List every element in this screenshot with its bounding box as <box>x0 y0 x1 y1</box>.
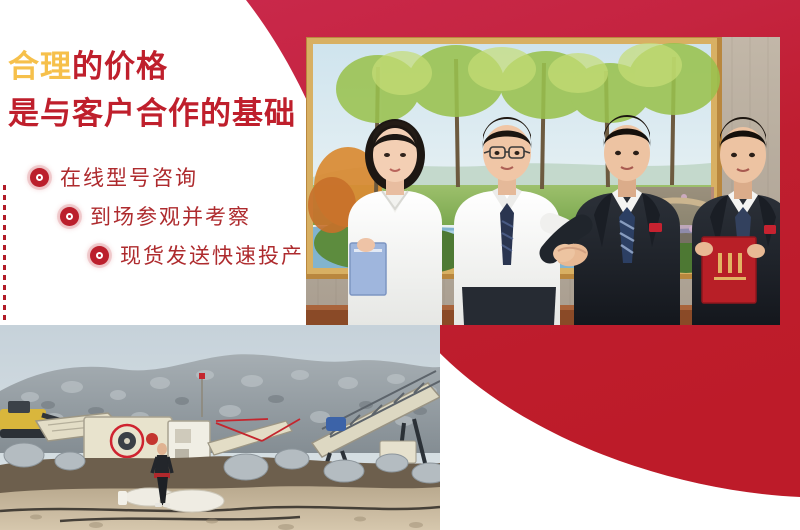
team-handshake-photo <box>306 37 780 325</box>
target-dot-icon <box>30 168 49 187</box>
promo-banner: 合理的价格 是与客户合作的基础 在线型号咨询 到场参观并考察 现货发送快速投产 <box>0 0 800 530</box>
headline-highlight: 合理 <box>8 49 72 84</box>
list-item[interactable]: 在线型号咨询 <box>0 162 320 192</box>
headline-line-2: 是与客户合作的基础 <box>8 97 308 132</box>
headline-block: 合理的价格 是与客户合作的基础 <box>8 50 308 131</box>
feature-bullet-list: 在线型号咨询 到场参观并考察 现货发送快速投产 <box>0 162 320 279</box>
target-dot-icon <box>60 207 79 226</box>
bullet-label: 现货发送快速投产 <box>120 240 304 270</box>
bullet-label: 到场参观并考察 <box>90 201 251 231</box>
list-item[interactable]: 到场参观并考察 <box>0 201 320 231</box>
headline-line-1-rest: 的价格 <box>72 49 168 84</box>
headline-line-1: 合理的价格 <box>8 50 308 85</box>
target-dot-icon <box>90 246 109 265</box>
mobile-crusher-photo <box>0 325 440 530</box>
bullet-label: 在线型号咨询 <box>60 162 198 192</box>
list-item[interactable]: 现货发送快速投产 <box>0 240 320 270</box>
